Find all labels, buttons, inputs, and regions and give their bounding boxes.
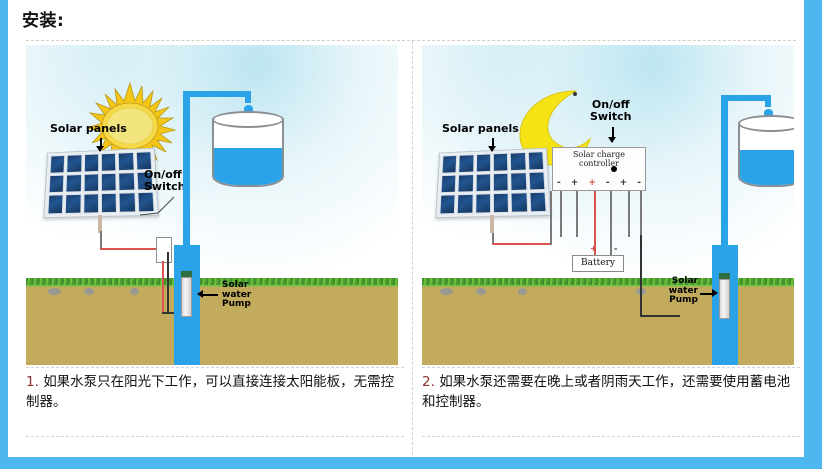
wire-pump-horizontal bbox=[640, 315, 680, 317]
panel-cell bbox=[83, 173, 99, 192]
panel-cell bbox=[118, 172, 135, 191]
panel-daytime: Solar panels On/off Switch bbox=[18, 41, 404, 455]
terminal-2: + bbox=[571, 178, 579, 188]
solar-panels-arrow-head bbox=[488, 146, 496, 152]
wire-panel-run-red bbox=[492, 243, 552, 245]
terminal-3: + bbox=[588, 178, 596, 188]
caption-nighttime: 2. 如果水泵还需要在晚上或者阴雨天工作，还需要使用蓄电池和控制器。 bbox=[422, 373, 800, 412]
wire-red-run bbox=[100, 248, 158, 250]
switch-arrow-head bbox=[608, 137, 616, 143]
pump-arrow-head bbox=[712, 289, 718, 297]
solar-panels-arrow-head bbox=[96, 146, 104, 152]
terminal-4: - bbox=[606, 178, 610, 188]
tank-water-level bbox=[214, 148, 282, 185]
panel-cell bbox=[459, 154, 475, 172]
rock-decoration bbox=[518, 288, 527, 295]
caption-bottom-divider bbox=[422, 436, 800, 437]
panel-cell bbox=[441, 174, 457, 193]
onoff-switch-box[interactable] bbox=[156, 237, 172, 263]
panel-cell bbox=[511, 193, 528, 213]
panel-cell bbox=[101, 153, 117, 172]
caption-daytime: 1. 如果水泵只在阳光下工作，可以直接连接太阳能板，无需控制器。 bbox=[26, 373, 404, 412]
terminal-wire-1 bbox=[560, 191, 562, 237]
panel-cell bbox=[119, 193, 136, 213]
panel-cell bbox=[475, 194, 491, 214]
panel-cell bbox=[527, 151, 544, 170]
pump-arrow-head bbox=[197, 290, 203, 298]
panel-cell bbox=[47, 195, 63, 215]
wire-controller-to-pump bbox=[640, 235, 642, 317]
battery-box: Battery bbox=[572, 255, 624, 272]
tank-rim bbox=[738, 115, 794, 132]
onoff-switch-dot[interactable] bbox=[611, 166, 617, 172]
panel-cell bbox=[50, 155, 66, 173]
controller-title: Solar charge controller bbox=[553, 151, 645, 169]
grass-strip bbox=[422, 278, 794, 287]
panel-cell bbox=[458, 174, 474, 193]
panel-cell bbox=[493, 173, 509, 192]
caption-text: 如果水泵还需要在晚上或者阴雨天工作，还需要使用蓄电池和控制器。 bbox=[422, 374, 790, 410]
solar-water-pump bbox=[719, 279, 730, 319]
rock-decoration bbox=[84, 288, 94, 295]
pump-arrow-line bbox=[202, 294, 218, 296]
panel-cell bbox=[529, 192, 547, 212]
terminal-wire-6 bbox=[640, 191, 642, 237]
battery-plus-sign: + bbox=[590, 245, 597, 254]
tank-body bbox=[738, 123, 794, 187]
ground-soil bbox=[422, 287, 794, 365]
solar-panel-array bbox=[434, 143, 550, 217]
terminal-6: - bbox=[637, 178, 641, 188]
ground-soil bbox=[26, 287, 398, 365]
caption-number: 2. bbox=[422, 374, 435, 390]
wire-panel-to-ground bbox=[100, 231, 102, 249]
tank-rim bbox=[212, 111, 284, 128]
panel-cell bbox=[101, 173, 117, 192]
rock-decoration bbox=[130, 288, 139, 295]
terminal-wire-3 bbox=[594, 191, 596, 243]
panel-cell bbox=[442, 155, 458, 173]
pump-cap bbox=[181, 271, 192, 277]
panel-cell bbox=[65, 194, 81, 214]
panel-cell bbox=[493, 153, 509, 172]
panel-cell bbox=[510, 172, 527, 191]
water-tank bbox=[738, 115, 794, 187]
label-onoff-switch: On/off Switch bbox=[144, 169, 185, 193]
wire-black-run bbox=[167, 252, 169, 314]
wire-switch-to-well bbox=[162, 261, 164, 313]
label-onoff-switch: On/off Switch bbox=[590, 99, 631, 123]
panel-cell bbox=[475, 173, 491, 192]
label-solar-water-pump: Solar water Pump bbox=[654, 277, 698, 306]
panel-cell bbox=[476, 154, 491, 172]
diagram-daytime: Solar panels On/off Switch bbox=[26, 45, 398, 365]
panel-support-leg bbox=[490, 215, 494, 233]
caption-bottom-divider bbox=[26, 436, 404, 437]
rock-decoration bbox=[440, 288, 453, 295]
diagram-nighttime: Solar panels On/off Switch Solar charge … bbox=[422, 45, 794, 365]
grass-strip bbox=[26, 278, 398, 287]
caption-text: 如果水泵只在阳光下工作，可以直接连接太阳能板，无需控制器。 bbox=[26, 374, 394, 410]
label-solar-panels: Solar panels bbox=[442, 123, 519, 135]
switch-leader-line bbox=[138, 195, 178, 227]
solar-water-pump bbox=[181, 277, 192, 317]
tank-water-level bbox=[740, 150, 794, 185]
pump-cap bbox=[719, 273, 730, 279]
wire-controller-left-up bbox=[550, 191, 552, 245]
rock-decoration bbox=[476, 288, 486, 295]
panel-cell bbox=[83, 194, 99, 214]
panel-cell bbox=[66, 174, 82, 193]
battery-minus-sign: - bbox=[614, 245, 617, 254]
caption-top-divider bbox=[422, 367, 800, 368]
label-solar-panels: Solar panels bbox=[50, 123, 127, 135]
page-root: 安装: bbox=[0, 0, 822, 469]
page-title: 安装: bbox=[22, 6, 64, 31]
tank-body bbox=[212, 119, 284, 187]
pipe-to-tank-horizontal bbox=[721, 95, 771, 101]
terminal-1: - bbox=[557, 178, 561, 188]
panel-cell bbox=[439, 195, 455, 215]
pipe-to-tank-horizontal bbox=[183, 91, 251, 97]
pipe-tank-down bbox=[245, 91, 251, 103]
panel-cell bbox=[528, 171, 545, 190]
terminal-5: + bbox=[620, 178, 628, 188]
solar-charge-controller[interactable]: Solar charge controller - + + - + - bbox=[552, 147, 646, 191]
panel-cell bbox=[493, 193, 509, 213]
panel-cell bbox=[457, 194, 473, 214]
water-tank bbox=[212, 111, 284, 187]
caption-top-divider bbox=[26, 367, 404, 368]
panel-cell bbox=[118, 152, 134, 171]
panel-cell bbox=[84, 154, 99, 172]
pipe-tank-down bbox=[765, 95, 771, 107]
panel-cell bbox=[510, 152, 526, 171]
terminal-wire-2 bbox=[576, 191, 578, 237]
panel-nighttime: Solar panels On/off Switch Solar charge … bbox=[414, 41, 800, 455]
panel-divider bbox=[412, 41, 413, 455]
panel-cell bbox=[49, 174, 65, 193]
panel-cell bbox=[101, 193, 117, 213]
rock-decoration bbox=[48, 288, 61, 295]
caption-number: 1. bbox=[26, 374, 39, 390]
label-solar-water-pump: Solar water Pump bbox=[222, 281, 251, 310]
terminal-wire-5 bbox=[628, 191, 630, 237]
controller-terminals: - + + - + - bbox=[557, 178, 641, 188]
terminal-wire-4 bbox=[610, 191, 612, 243]
panel-cell bbox=[67, 154, 83, 172]
content-card: 安装: bbox=[8, 0, 804, 457]
